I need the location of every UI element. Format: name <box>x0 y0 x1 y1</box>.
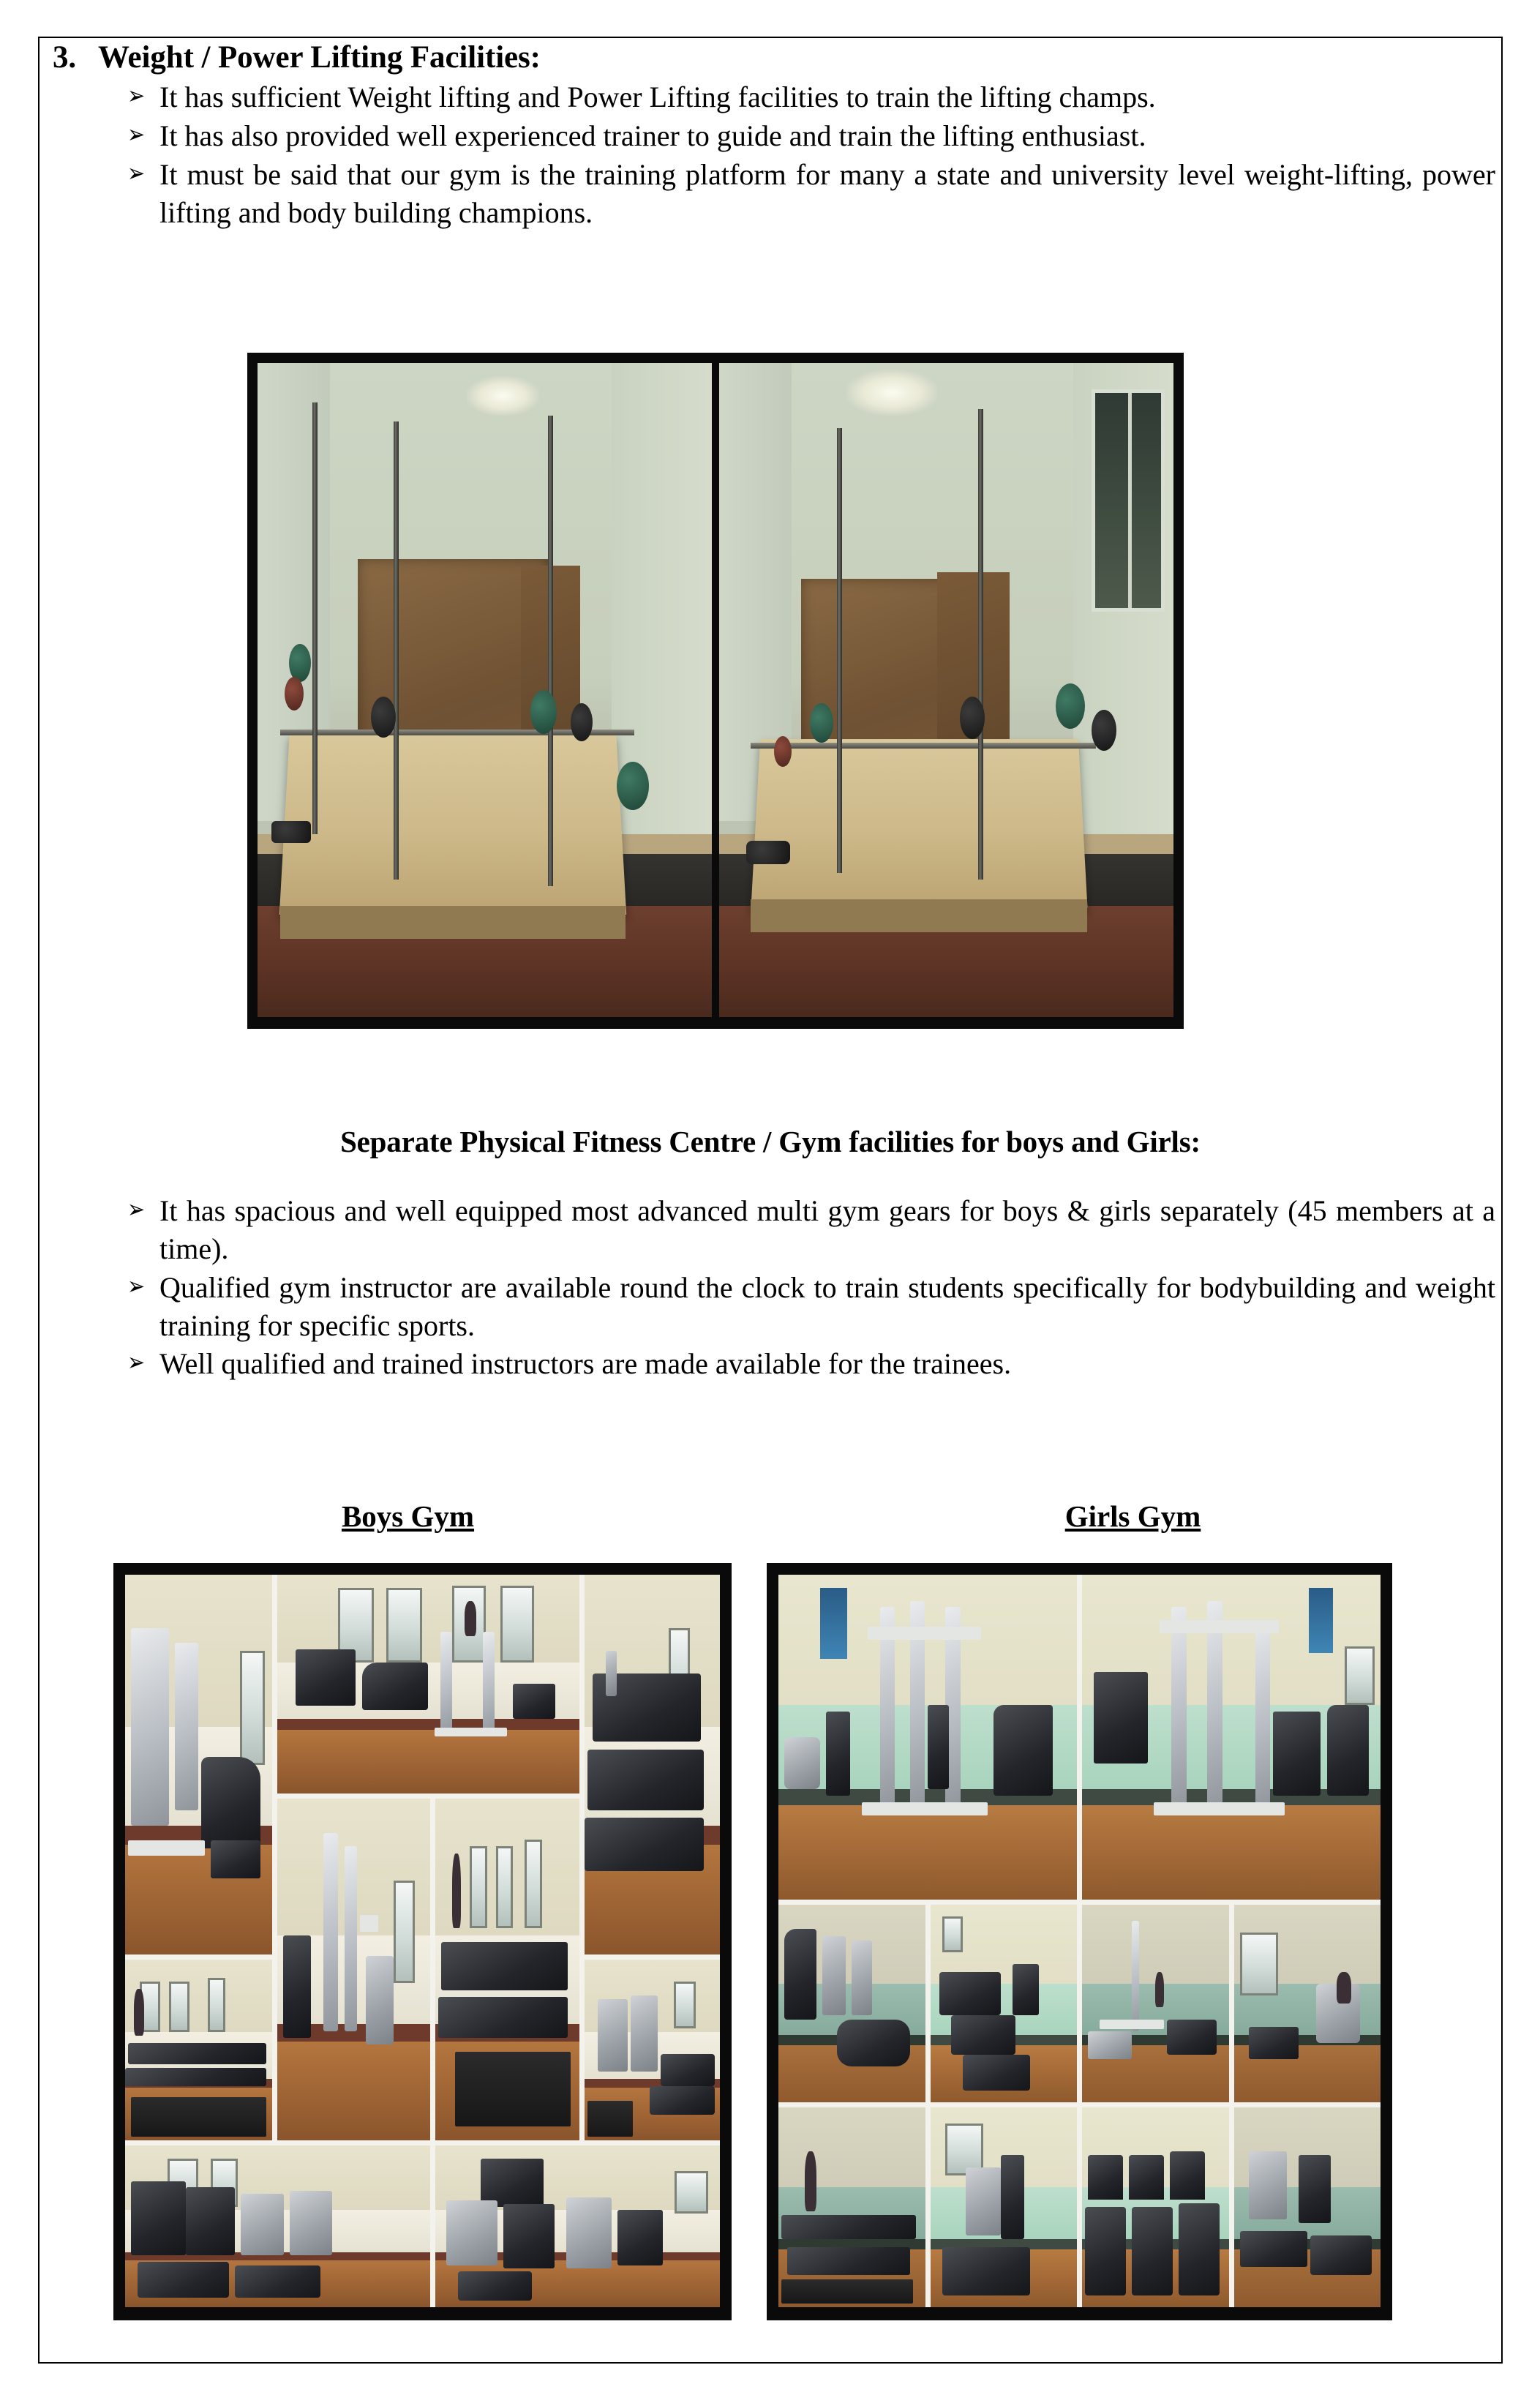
arrow-bullet-icon: ➢ <box>127 1345 154 1383</box>
list-item: ➢ It has spacious and well equipped most… <box>127 1192 1495 1268</box>
gym-bullet-list: ➢ It has spacious and well equipped most… <box>45 1192 1495 1383</box>
collage-tile <box>435 1799 579 2140</box>
collage-tile <box>277 1799 430 2140</box>
subsection-heading: Separate Physical Fitness Centre / Gym f… <box>45 1124 1495 1160</box>
girls-gym-figure <box>767 1563 1392 2320</box>
collage-tile <box>1082 1905 1229 2102</box>
list-item: ➢ Well qualified and trained instructors… <box>127 1345 1495 1383</box>
lifting-hall-photo-left <box>258 363 712 1017</box>
collage-tile <box>931 2107 1078 2307</box>
arrow-bullet-icon: ➢ <box>127 1192 154 1268</box>
list-item: ➢ It has sufficient Weight lifting and P… <box>127 78 1495 116</box>
collage-tile <box>277 1575 579 1794</box>
list-item: ➢ It has also provided well experienced … <box>127 117 1495 155</box>
list-item-text: Well qualified and trained instructors a… <box>159 1345 1495 1383</box>
girls-gym-label: Girls Gym <box>1065 1499 1201 1533</box>
section-title: Weight / Power Lifting Facilities: <box>98 41 1495 75</box>
list-item-text: It has also provided well experienced tr… <box>159 117 1495 155</box>
list-item-text: It has sufficient Weight lifting and Pow… <box>159 78 1495 116</box>
collage-tile <box>931 1905 1078 2102</box>
collage-tile <box>1082 2107 1229 2307</box>
collage-tile <box>778 1575 1077 1900</box>
collage-tile <box>125 1575 272 1954</box>
collage-tile <box>125 1960 272 2140</box>
lifting-bullet-list: ➢ It has sufficient Weight lifting and P… <box>45 78 1495 231</box>
collage-tile <box>1234 1905 1381 2102</box>
list-item-text: It must be said that our gym is the trai… <box>159 156 1495 232</box>
collage-tile <box>435 2145 720 2307</box>
document-content: 3. Weight / Power Lifting Facilities: ➢ … <box>45 41 1495 233</box>
list-item: ➢ It must be said that our gym is the tr… <box>127 156 1495 232</box>
gym-section: Separate Physical Fitness Centre / Gym f… <box>45 1124 1495 1384</box>
collage-tile <box>585 1575 720 1954</box>
collage-tile <box>1082 1575 1381 1900</box>
lifting-hall-photo-right <box>719 363 1173 1017</box>
list-item-text: It has spacious and well equipped most a… <box>159 1192 1495 1268</box>
collage-tile <box>778 1905 925 2102</box>
collage-tile <box>125 2145 430 2307</box>
arrow-bullet-icon: ➢ <box>127 78 154 116</box>
gym-label-row: Boys Gym Girls Gym <box>45 1499 1495 1534</box>
boys-gym-figure <box>113 1563 732 2320</box>
boys-gym-label-cell: Boys Gym <box>45 1499 770 1534</box>
list-item: ➢ Qualified gym instructor are available… <box>127 1269 1495 1345</box>
arrow-bullet-icon: ➢ <box>127 117 154 155</box>
list-item-text: Qualified gym instructor are available r… <box>159 1269 1495 1345</box>
arrow-bullet-icon: ➢ <box>127 1269 154 1345</box>
collage-tile <box>1234 2107 1381 2307</box>
document-page: 3. Weight / Power Lifting Facilities: ➢ … <box>0 0 1540 2395</box>
collage-tile <box>585 1960 720 2140</box>
boys-gym-label: Boys Gym <box>342 1499 474 1533</box>
girls-gym-label-cell: Girls Gym <box>770 1499 1495 1534</box>
arrow-bullet-icon: ➢ <box>127 156 154 232</box>
collage-tile <box>778 2107 925 2307</box>
lifting-hall-figure <box>247 353 1184 1029</box>
section-number: 3. <box>53 41 98 75</box>
section-heading: 3. Weight / Power Lifting Facilities: <box>53 41 1495 75</box>
